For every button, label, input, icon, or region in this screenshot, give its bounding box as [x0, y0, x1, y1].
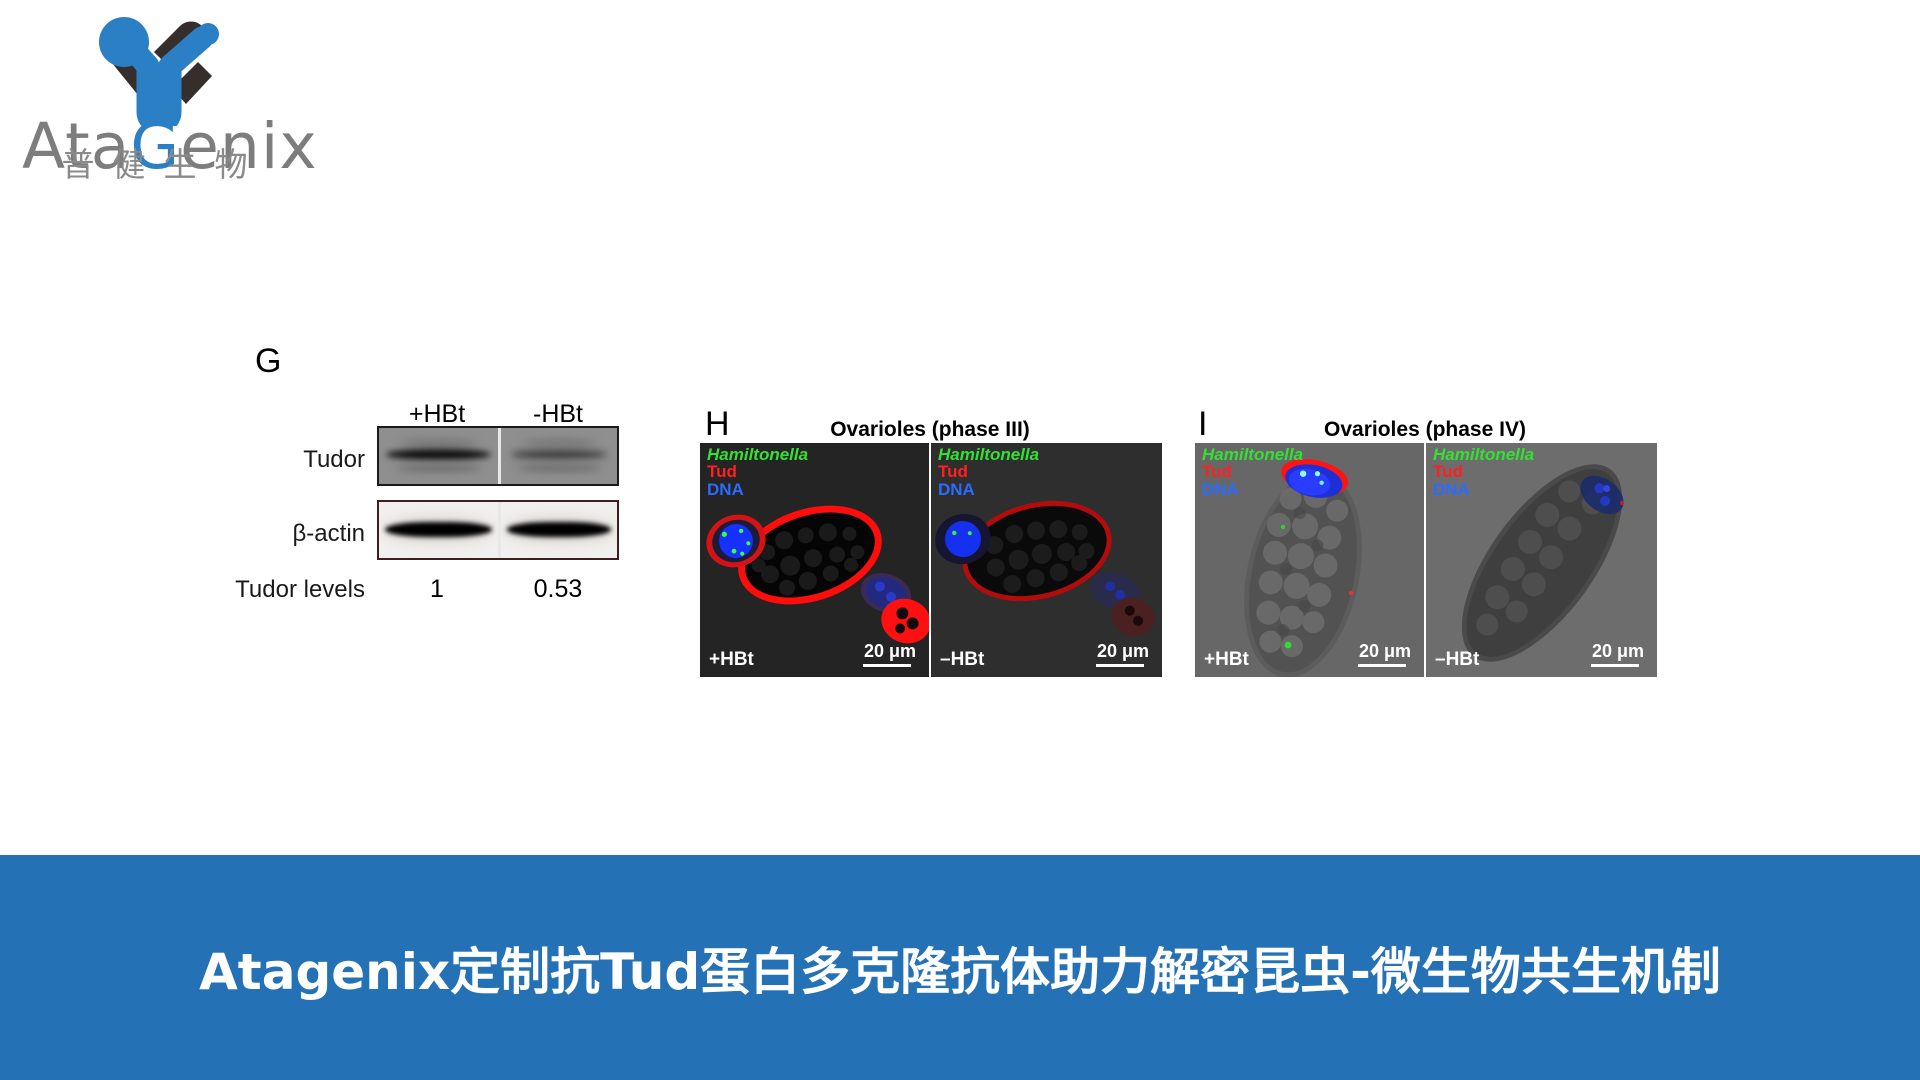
micrograph-h-plus-hbt[interactable]: Hamiltonella Tud DNA +HBt 20 μm [700, 443, 931, 677]
blot-image-tudor [377, 426, 619, 486]
blot-lane-tudor-minus [498, 428, 617, 484]
scalebar-i-plus: 20 μm [1358, 642, 1412, 667]
banner-headline: Atagenix定制抗Tud蛋白多克隆抗体助力解密昆虫-微生物共生机制 [199, 932, 1721, 1004]
scalebar-text: 20 μm [863, 642, 917, 662]
channel-legend-i-minus: Hamiltonella Tud DNA [1433, 446, 1534, 498]
blot-lane-tudor-plus [379, 428, 498, 484]
blot-row-label-tudor: Tudor [255, 446, 365, 474]
scalebar-text: 20 μm [1096, 642, 1150, 662]
micrograph-i-plus-hbt[interactable]: Hamiltonella Tud DNA +HBt 20 μm [1195, 443, 1426, 677]
tudor-levels-label: Tudor levels [215, 576, 365, 604]
blot-lane-actin-plus [379, 502, 498, 558]
legend-protein: Tud [1202, 463, 1303, 480]
legend-dna: DNA [1433, 481, 1534, 498]
blot-column-header-minus: -HBt [498, 400, 618, 429]
legend-dna: DNA [1202, 481, 1303, 498]
micrograph-i-minus-hbt[interactable]: Hamiltonella Tud DNA –HBt 20 μm [1426, 443, 1657, 677]
legend-dna: DNA [938, 481, 1039, 498]
condition-label-i-minus: –HBt [1435, 649, 1479, 671]
panel-i-title: Ovarioles (phase IV) [1195, 418, 1655, 442]
condition-label-h-minus: –HBt [940, 649, 984, 671]
legend-dna: DNA [707, 481, 808, 498]
blot-column-header-plus: +HBt [377, 400, 497, 429]
scalebar-h-minus: 20 μm [1096, 642, 1150, 667]
legend-species: Hamiltonella [1433, 446, 1534, 463]
legend-protein: Tud [1433, 463, 1534, 480]
blot-row-label-actin: β-actin [255, 520, 365, 548]
panel-i-images: Hamiltonella Tud DNA +HBt 20 μm [1195, 443, 1657, 677]
panel-h-images: Hamiltonella Tud DNA +HBt 20 μm [700, 443, 1162, 677]
scalebar-h-plus: 20 μm [863, 642, 917, 667]
channel-legend-h-plus: Hamiltonella Tud DNA [707, 446, 808, 498]
legend-protein: Tud [707, 463, 808, 480]
legend-species: Hamiltonella [1202, 446, 1303, 463]
channel-legend-h-minus: Hamiltonella Tud DNA [938, 446, 1039, 498]
panel-g-letter: G [255, 342, 281, 381]
figure-area: G +HBt -HBt Tudor β-actin [0, 0, 1920, 855]
panel-h-title: Ovarioles (phase III) [700, 418, 1160, 442]
scalebar-text: 20 μm [1358, 642, 1412, 662]
slide-root: AtaGenix 普健生物 G +HBt -HBt Tudor β-actin [0, 0, 1920, 1080]
tudor-level-value-plus: 1 [377, 575, 497, 604]
condition-label-i-plus: +HBt [1204, 649, 1249, 671]
legend-species: Hamiltonella [707, 446, 808, 463]
condition-label-h-plus: +HBt [709, 649, 754, 671]
legend-protein: Tud [938, 463, 1039, 480]
micrograph-h-minus-hbt[interactable]: Hamiltonella Tud DNA –HBt 20 μm [931, 443, 1162, 677]
panel-g: G +HBt -HBt Tudor β-actin [255, 400, 675, 680]
bottom-banner: Atagenix定制抗Tud蛋白多克隆抗体助力解密昆虫-微生物共生机制 [0, 855, 1920, 1080]
scalebar-line [1358, 664, 1406, 667]
scalebar-i-minus: 20 μm [1591, 642, 1645, 667]
blot-image-actin [377, 500, 619, 560]
channel-legend-i-plus: Hamiltonella Tud DNA [1202, 446, 1303, 498]
scalebar-line [1591, 664, 1639, 667]
scalebar-text: 20 μm [1591, 642, 1645, 662]
legend-species: Hamiltonella [938, 446, 1039, 463]
tudor-level-value-minus: 0.53 [498, 575, 618, 604]
scalebar-line [863, 664, 911, 667]
scalebar-line [1096, 664, 1144, 667]
blot-lane-actin-minus [498, 502, 617, 558]
